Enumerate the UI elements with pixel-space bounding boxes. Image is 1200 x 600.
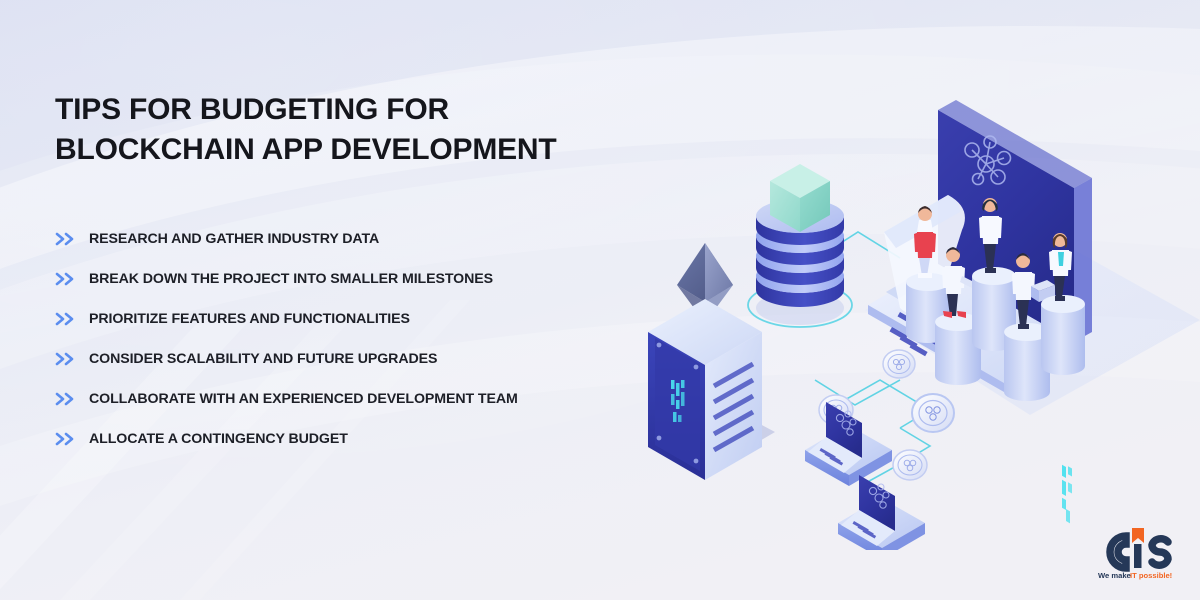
logo-tagline-accent: IT possible! (1130, 571, 1172, 580)
ethereum-server (648, 243, 775, 480)
pillar-5 (1041, 295, 1085, 375)
double-chevron-right-icon (55, 352, 81, 366)
list-item: ALLOCATE A CONTINGENCY BUDGET (55, 428, 635, 450)
logo-letter-i (1134, 544, 1142, 568)
logo-letter-s (1152, 539, 1168, 565)
coin-token (893, 450, 927, 480)
page-title: TIPS FOR BUDGETING FOR BLOCKCHAIN APP DE… (55, 90, 615, 170)
list-item: RESEARCH AND GATHER INDUSTRY DATA (55, 228, 635, 250)
double-chevron-right-icon (55, 392, 81, 406)
double-chevron-right-icon (55, 232, 81, 246)
list-item: COLLABORATE WITH AN EXPERIENCED DEVELOPM… (55, 388, 635, 410)
title-line-2: BLOCKCHAIN APP DEVELOPMENT (55, 130, 615, 170)
title-line-1: TIPS FOR BUDGETING FOR (55, 90, 615, 130)
laptop-small-lower (838, 475, 925, 550)
list-item: BREAK DOWN THE PROJECT INTO SMALLER MILE… (55, 268, 635, 290)
double-chevron-right-icon (55, 432, 81, 446)
list-item-label: PRIORITIZE FEATURES AND FUNCTIONALITIES (81, 311, 410, 327)
coin-token (883, 350, 915, 378)
logo-bookmark-accent (1132, 528, 1144, 543)
list-item-label: CONSIDER SCALABILITY AND FUTURE UPGRADES (81, 351, 437, 367)
cis-logo[interactable]: We make IT possible! (1096, 526, 1182, 582)
screen-data-bars (1062, 465, 1072, 524)
text-content: TIPS FOR BUDGETING FOR BLOCKCHAIN APP DE… (0, 0, 640, 600)
list-item-label: ALLOCATE A CONTINGENCY BUDGET (81, 431, 348, 447)
tips-list: RESEARCH AND GATHER INDUSTRY DATA BREAK … (55, 228, 635, 468)
list-item-label: COLLABORATE WITH AN EXPERIENCED DEVELOPM… (81, 391, 518, 407)
list-item-label: BREAK DOWN THE PROJECT INTO SMALLER MILE… (81, 271, 493, 287)
list-item-label: RESEARCH AND GATHER INDUSTRY DATA (81, 231, 379, 247)
logo-tagline-plain: We make (1098, 571, 1131, 580)
database-stack (748, 164, 852, 327)
list-item: PRIORITIZE FEATURES AND FUNCTIONALITIES (55, 308, 635, 330)
logo-letter-c (1110, 536, 1126, 568)
double-chevron-right-icon (55, 272, 81, 286)
list-item: CONSIDER SCALABILITY AND FUTURE UPGRADES (55, 348, 635, 370)
isometric-blockchain-illustration (600, 80, 1200, 550)
double-chevron-right-icon (55, 312, 81, 326)
coin-token (912, 394, 954, 432)
infographic-canvas: TIPS FOR BUDGETING FOR BLOCKCHAIN APP DE… (0, 0, 1200, 600)
